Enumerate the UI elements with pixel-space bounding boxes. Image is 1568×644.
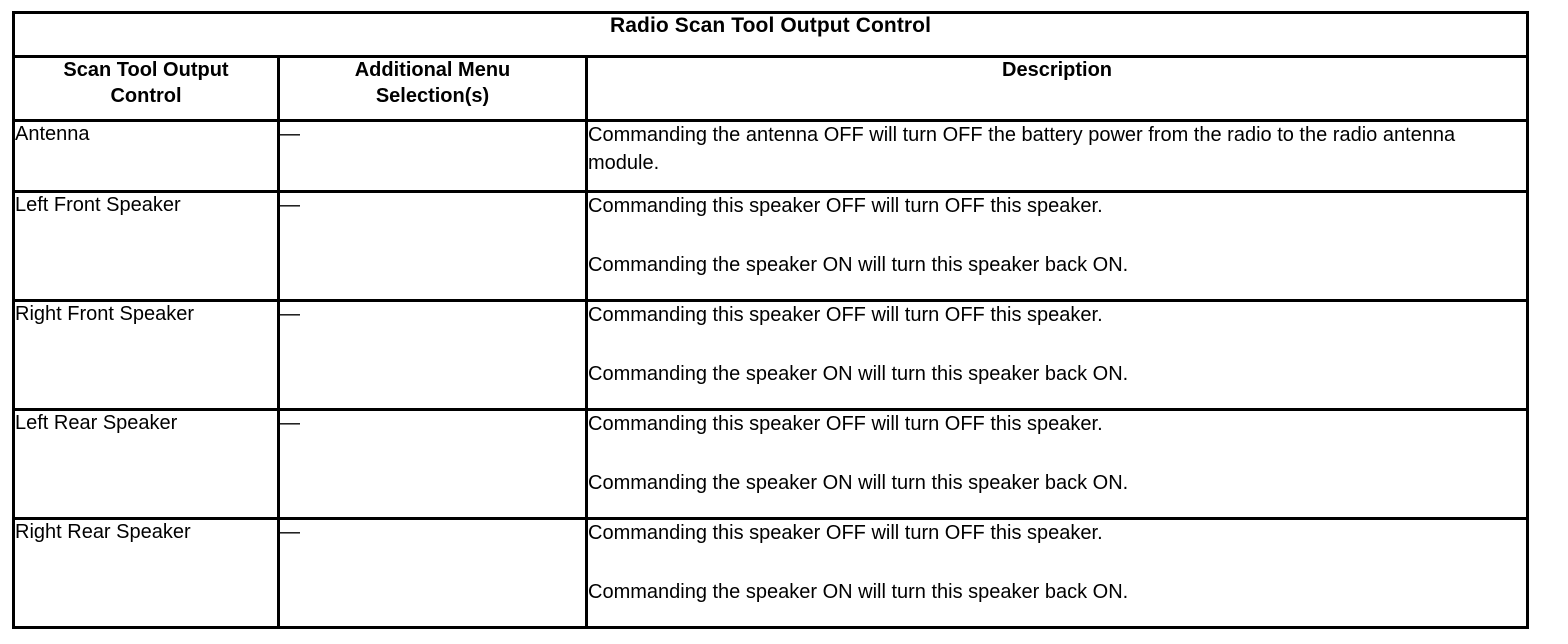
description-line-1: Commanding this speaker OFF will turn OF…	[588, 302, 1526, 330]
table-title-cell: Radio Scan Tool Output Control	[14, 13, 1528, 57]
description-spacer	[588, 439, 1526, 470]
cell-additional-menu: —	[279, 192, 587, 301]
cell-control-name: Left Front Speaker	[14, 192, 279, 301]
cell-description: Commanding this speaker OFF will turn OF…	[587, 410, 1528, 519]
additional-menu-text: —	[280, 122, 585, 147]
description-line-1: Commanding this speaker OFF will turn OF…	[588, 411, 1526, 439]
description-line-1: Commanding this speaker OFF will turn OF…	[588, 520, 1526, 548]
cell-control-name: Antenna	[14, 121, 279, 192]
column-header-scan-tool-output-control-text: Scan Tool OutputControl	[15, 58, 277, 116]
description-line-1: Commanding the antenna OFF will turn OFF…	[588, 122, 1526, 177]
header-line-1: Additional Menu	[355, 59, 511, 81]
document-page: Radio Scan Tool Output Control Scan Tool…	[0, 0, 1568, 644]
control-name-text: Antenna	[15, 122, 277, 147]
cell-additional-menu: —	[279, 410, 587, 519]
description-line-2: Commanding the speaker ON will turn this…	[588, 470, 1526, 498]
cell-additional-menu: —	[279, 519, 587, 628]
column-header-description-text: Description	[588, 58, 1526, 92]
table-header-row: Scan Tool OutputControl Additional MenuS…	[14, 57, 1528, 121]
additional-menu-text: —	[280, 520, 585, 545]
column-header-additional-menu-selections: Additional MenuSelection(s)	[279, 57, 587, 121]
additional-menu-text: —	[280, 302, 585, 327]
cell-additional-menu: —	[279, 301, 587, 410]
table-row: Left Rear Speaker — Commanding this spea…	[14, 410, 1528, 519]
description-spacer	[588, 548, 1526, 579]
cell-description: Commanding this speaker OFF will turn OF…	[587, 301, 1528, 410]
table-title-row: Radio Scan Tool Output Control	[14, 13, 1528, 57]
column-header-scan-tool-output-control: Scan Tool OutputControl	[14, 57, 279, 121]
control-name-text: Left Front Speaker	[15, 193, 277, 218]
cell-additional-menu: —	[279, 121, 587, 192]
control-name-text: Right Front Speaker	[15, 302, 277, 327]
control-name-text: Left Rear Speaker	[15, 411, 277, 436]
header-line-2: Control	[110, 85, 181, 107]
table-container: Radio Scan Tool Output Control Scan Tool…	[12, 11, 1526, 629]
cell-control-name: Right Front Speaker	[14, 301, 279, 410]
cell-description: Commanding the antenna OFF will turn OFF…	[587, 121, 1528, 192]
description-spacer	[588, 221, 1526, 252]
description-line-2: Commanding the speaker ON will turn this…	[588, 361, 1526, 389]
description-line-2: Commanding the speaker ON will turn this…	[588, 252, 1526, 280]
cell-control-name: Left Rear Speaker	[14, 410, 279, 519]
description-line-1: Commanding this speaker OFF will turn OF…	[588, 193, 1526, 221]
table-row: Right Front Speaker — Commanding this sp…	[14, 301, 1528, 410]
table-row: Right Rear Speaker — Commanding this spe…	[14, 519, 1528, 628]
table-row: Left Front Speaker — Commanding this spe…	[14, 192, 1528, 301]
table-row: Antenna — Commanding the antenna OFF wil…	[14, 121, 1528, 192]
additional-menu-text: —	[280, 193, 585, 218]
radio-scan-tool-output-control-table: Radio Scan Tool Output Control Scan Tool…	[12, 11, 1529, 629]
header-line-1: Scan Tool Output	[63, 59, 228, 81]
column-header-description: Description	[587, 57, 1528, 121]
cell-description: Commanding this speaker OFF will turn OF…	[587, 519, 1528, 628]
control-name-text: Right Rear Speaker	[15, 520, 277, 545]
cell-description: Commanding this speaker OFF will turn OF…	[587, 192, 1528, 301]
description-spacer	[588, 330, 1526, 361]
cell-control-name: Right Rear Speaker	[14, 519, 279, 628]
header-line-2: Selection(s)	[376, 85, 489, 107]
additional-menu-text: —	[280, 411, 585, 436]
description-line-2: Commanding the speaker ON will turn this…	[588, 579, 1526, 607]
table-title: Radio Scan Tool Output Control	[610, 14, 931, 37]
column-header-additional-menu-selections-text: Additional MenuSelection(s)	[280, 58, 585, 116]
